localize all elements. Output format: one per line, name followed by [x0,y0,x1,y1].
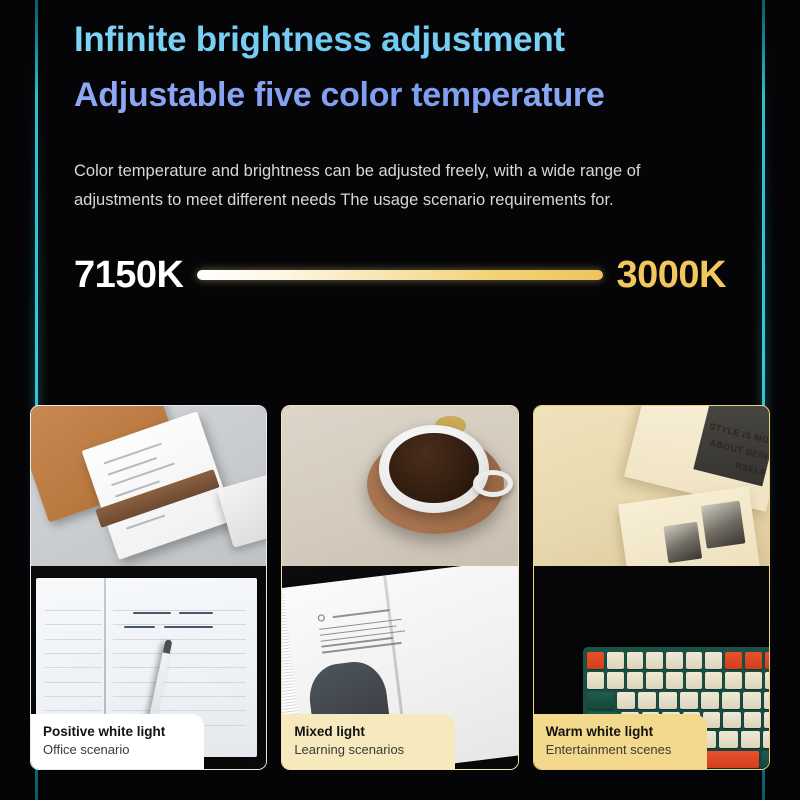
desk-device [217,472,266,548]
temperature-gradient-bar[interactable] [197,270,602,280]
cool-temperature-value: 7150K [74,256,183,294]
photo-print-card [618,487,760,566]
portrait-photo-a [701,501,746,549]
photo-top-coffee-scene [282,406,517,566]
product-page: Infinite brightness adjustment Adjustabl… [0,0,800,800]
keyboard-row [587,692,769,709]
bullet-marker [317,614,325,622]
keyboard-row [587,672,769,689]
portrait-photo-b [664,522,703,563]
headline-line-1: Infinite brightness adjustment [74,18,726,63]
caption-positive-white-light: Positive white light Office scenario [30,714,204,770]
caption-subtitle: Learning scenarios [294,741,442,759]
caption-subtitle: Office scenario [43,741,191,759]
caption-mixed-light: Mixed light Learning scenarios [281,714,455,770]
warm-temperature-value: 3000K [617,256,726,294]
caption-title: Warm white light [546,724,694,741]
caption-title: Mixed light [294,724,442,741]
photo-top-poster-scene: STYLE IS MOR ABOUT BEIN RSELF [534,406,769,566]
cup-handle [473,470,513,497]
scenario-card-warm-white-light[interactable]: STYLE IS MOR ABOUT BEIN RSELF [533,405,770,770]
scenario-card-mixed-light[interactable]: Mixed light Learning scenarios [281,405,518,770]
scenario-card-positive-white-light[interactable]: Positive white light Office scenario [30,405,267,770]
headline-line-2: Adjustable five color temperature [74,74,726,118]
coffee-liquid [389,433,478,503]
body-paragraph: Color temperature and brightness can be … [74,157,694,214]
caption-title: Positive white light [43,724,191,741]
headline-block: Infinite brightness adjustment Adjustabl… [44,0,756,117]
caption-warm-white-light: Warm white light Entertainment scenes [533,714,707,770]
pen [149,639,173,721]
keyboard-row [587,652,769,669]
photo-top-desk-scene [31,406,266,566]
caption-subtitle: Entertainment scenes [546,741,694,759]
scenario-cards: Positive white light Office scenario [30,405,770,770]
temperature-scale: 7150K 3000K [74,256,726,294]
